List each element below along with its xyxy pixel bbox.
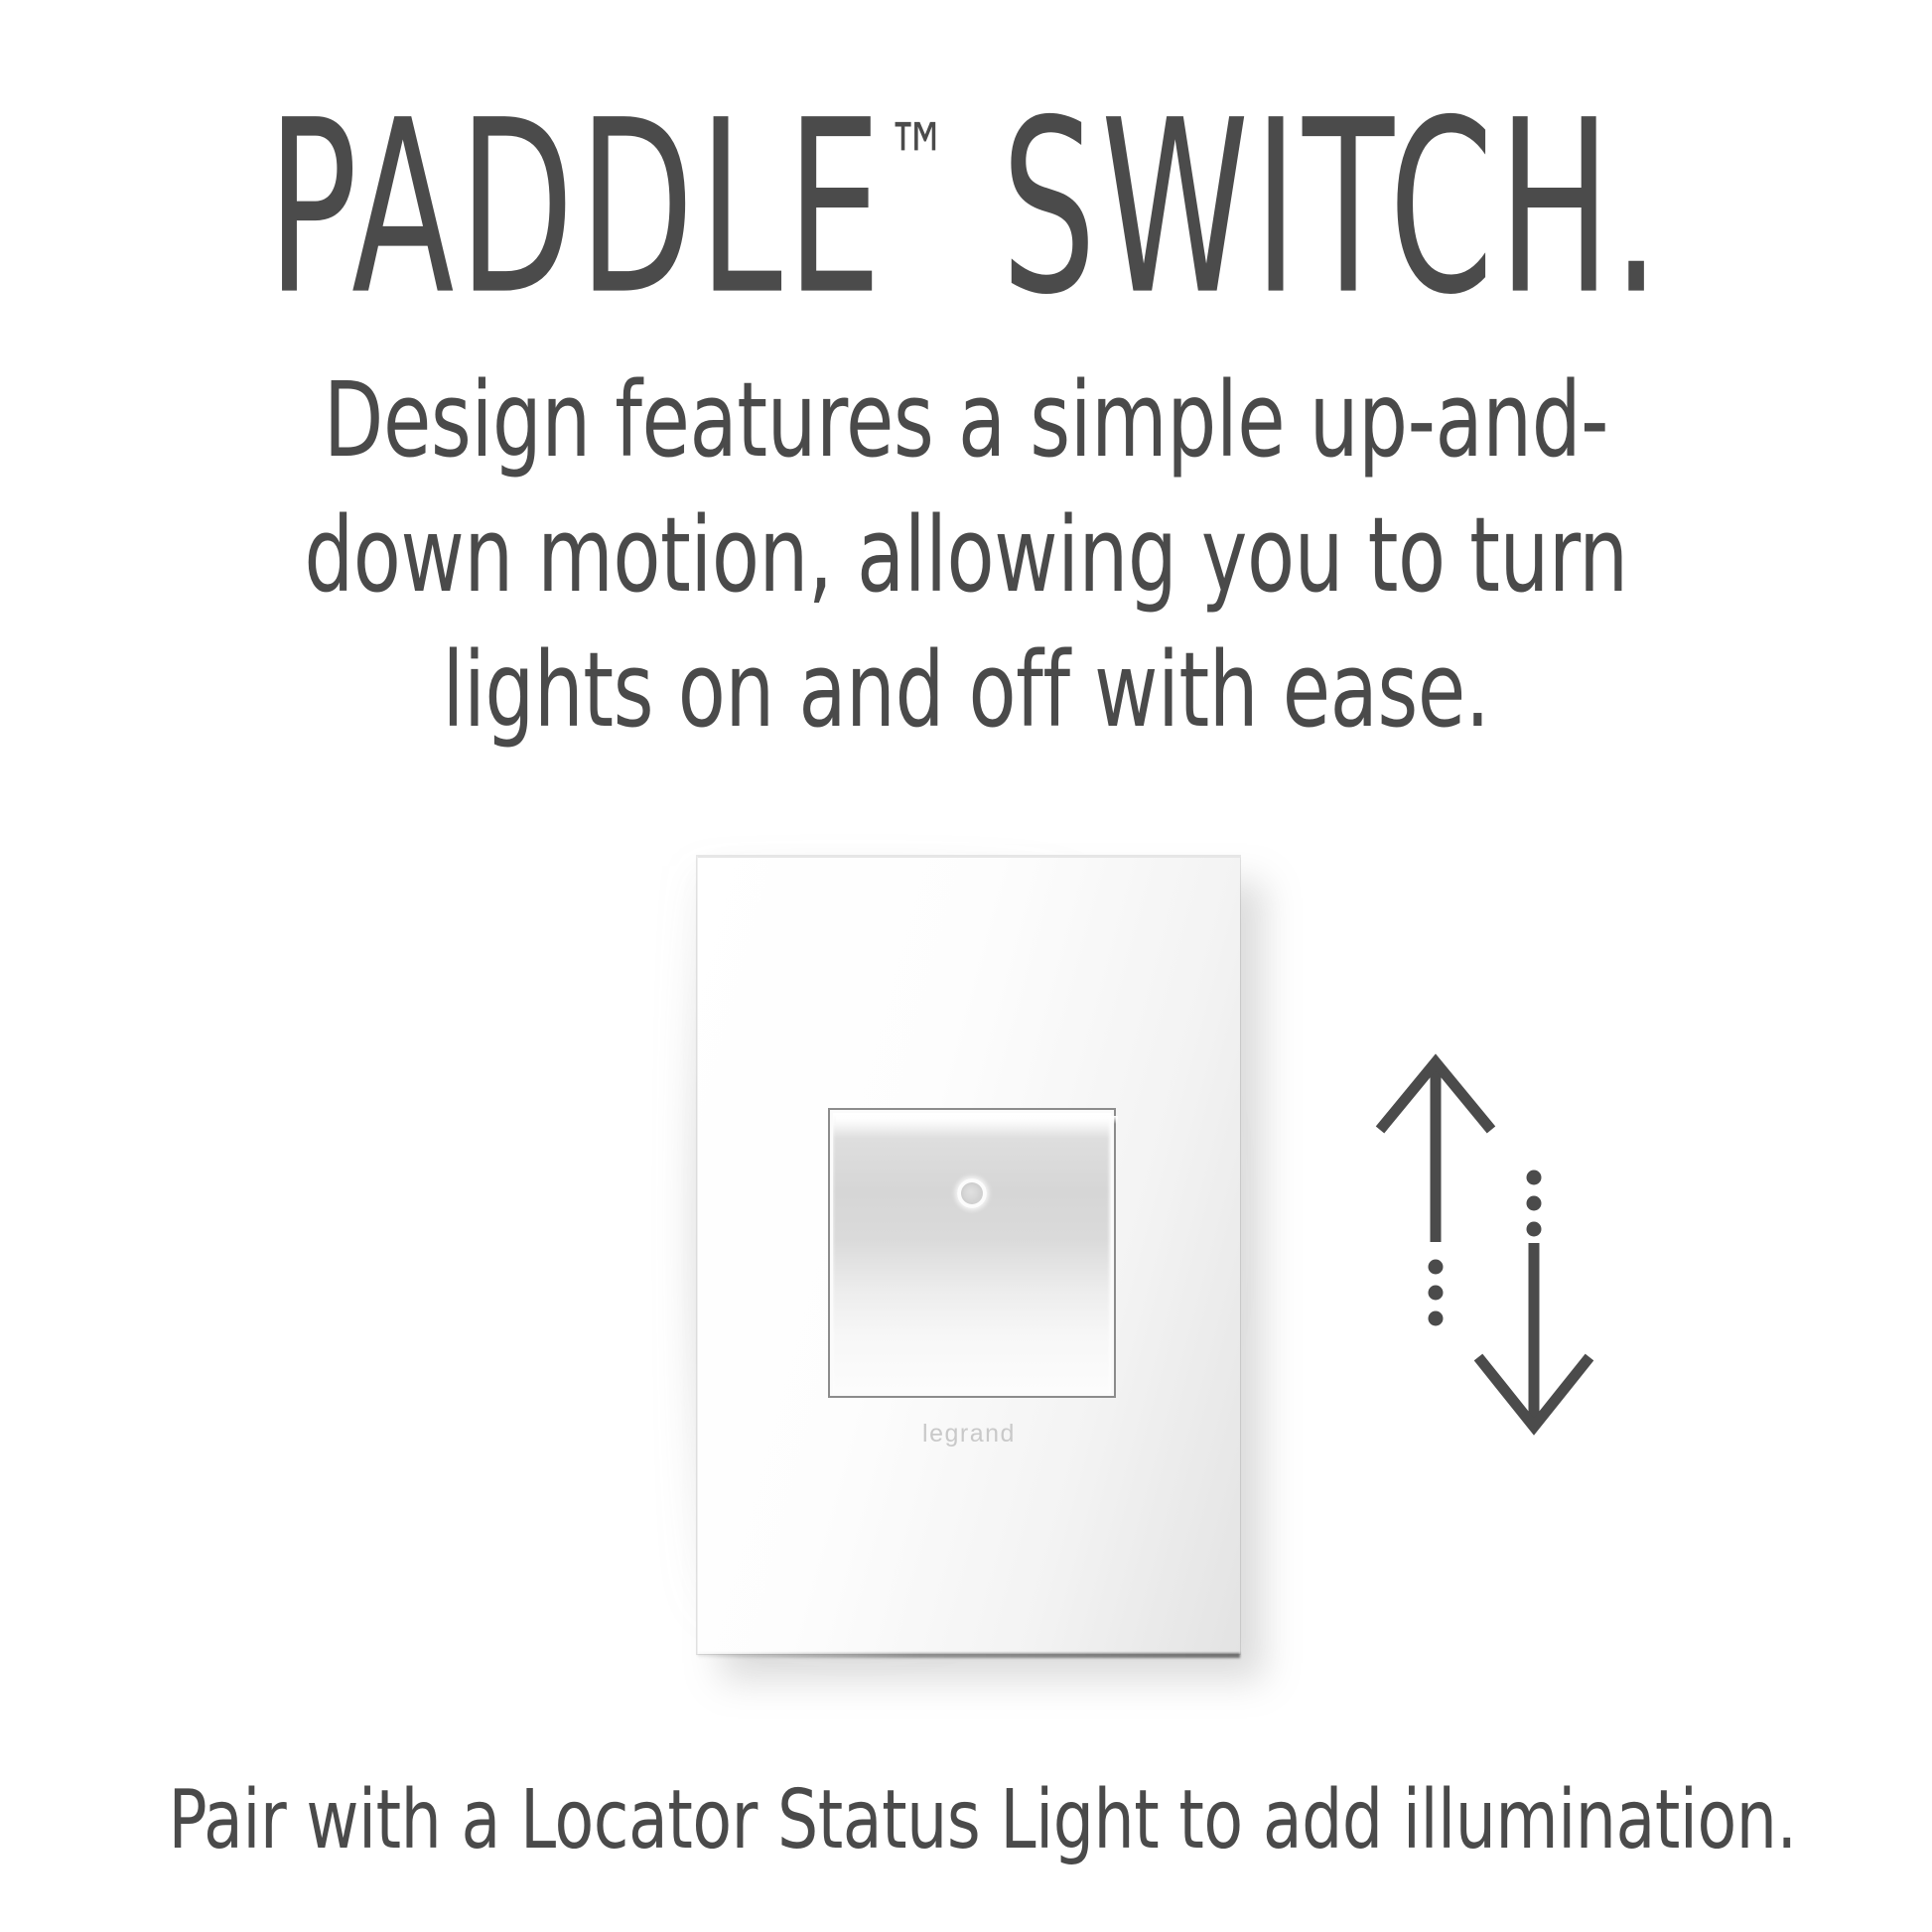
title-main: PADDLE — [267, 69, 886, 347]
paddle-top-highlight — [836, 1116, 1118, 1124]
footer-caption: Pair with a Locator Status Light to add … — [169, 1773, 1764, 1868]
wall-plate[interactable]: legrand — [697, 856, 1240, 1654]
updown-motion-diagram — [1358, 1033, 1616, 1499]
down-arrow-dots — [1527, 1171, 1542, 1237]
arrow-down-icon — [1478, 1243, 1589, 1427]
arrow-up-icon — [1380, 1062, 1491, 1242]
page-title: PADDLE™ SWITCH. — [212, 42, 1720, 328]
subtitle-line-2: down motion, allowing you to turn — [271, 487, 1660, 622]
subtitle-line-1: Design features a simple up-and- — [271, 352, 1660, 487]
paddle-surface[interactable] — [833, 1113, 1111, 1393]
title-tail: SWITCH. — [949, 69, 1665, 347]
subtitle-block: Design features a simple up-and- down mo… — [271, 352, 1660, 758]
subtitle-line-3: lights on and off with ease. — [271, 622, 1660, 758]
power-locator-icon[interactable] — [957, 1178, 987, 1208]
legrand-logo: legrand — [698, 1420, 1240, 1449]
up-arrow-dots — [1429, 1260, 1444, 1326]
trademark-symbol: ™ — [886, 103, 948, 220]
product-feature-card: PADDLE™ SWITCH. Design features a simple… — [0, 0, 1932, 1932]
paddle-rocker[interactable] — [828, 1108, 1116, 1398]
paddle-frame — [828, 1108, 1116, 1398]
